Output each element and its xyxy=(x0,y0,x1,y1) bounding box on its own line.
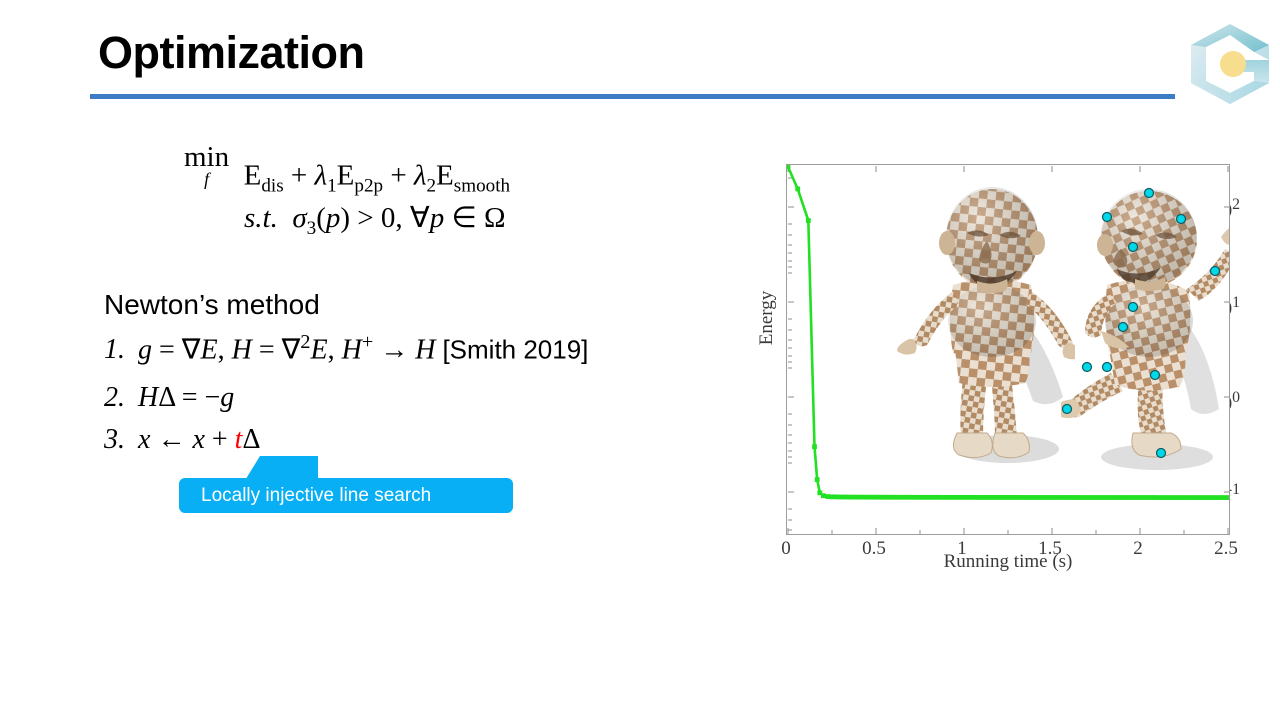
step-highlight: t xyxy=(235,424,243,455)
newton-step-1: 1. g = ∇E, H = ∇2E, H+ → H [Smith 2019] xyxy=(104,331,588,366)
min-operator: minf xyxy=(184,143,229,187)
hexagon-g-logo xyxy=(1183,20,1277,108)
x-tick-label: 2 xyxy=(1115,538,1161,560)
plot-area xyxy=(786,164,1230,535)
y-axis-label: Energy xyxy=(756,258,778,378)
step-body: g xyxy=(138,334,152,365)
step-number: 3. xyxy=(104,424,125,455)
x-tick-label: 2.5 xyxy=(1203,538,1249,560)
page-title: Optimization xyxy=(98,30,364,75)
constraint-equation: s.t. σ3(p) > 0, ∀p ∈ Ω xyxy=(244,200,506,240)
newton-step-2: 2. HΔ = −g xyxy=(104,382,234,414)
step-citation: [Smith 2019] xyxy=(442,334,588,364)
title-divider xyxy=(90,94,1175,99)
x-tick-label: 0 xyxy=(763,538,809,560)
objective-equation: minf Edis + λ1Ep2p + λ2Esmooth xyxy=(184,143,510,197)
energy-convergence-chart: Energy Running time (s) 102 101 100 10-1… xyxy=(720,148,1240,573)
step-body: x xyxy=(138,424,150,455)
slide: Optimization xyxy=(0,0,1280,718)
callout-box[interactable]: Locally injective line search xyxy=(179,478,513,513)
step-body: H xyxy=(138,382,158,413)
newton-heading: Newton’s method xyxy=(104,289,320,321)
callout-label: Locally injective line search xyxy=(201,485,431,507)
energy-curve xyxy=(787,165,1230,535)
x-tick-label: 1.5 xyxy=(1027,538,1073,560)
x-tick-label: 0.5 xyxy=(851,538,897,560)
newton-step-3: 3. x ← x + tΔ xyxy=(104,424,260,456)
step-number: 1. xyxy=(104,334,125,365)
x-tick-label: 1 xyxy=(939,538,985,560)
step-number: 2. xyxy=(104,382,125,413)
